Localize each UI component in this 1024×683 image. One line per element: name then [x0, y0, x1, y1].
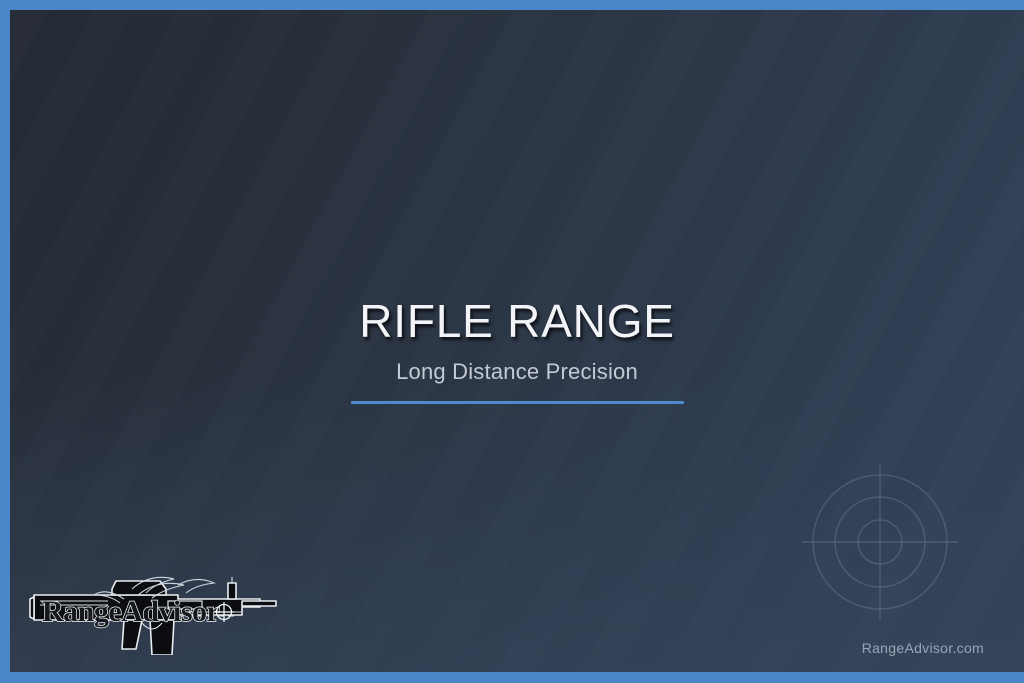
- rifle-logo-graphic: .rf-body { fill:#0b0d10; stroke:#e9edf2;…: [28, 565, 283, 655]
- crosshair-target-icon: [792, 454, 968, 630]
- page-subtitle: Long Distance Precision: [10, 360, 1024, 384]
- logo-wordmark: RangeAdvisor: [42, 595, 220, 628]
- brand-logo: .rf-body { fill:#0b0d10; stroke:#e9edf2;…: [28, 565, 283, 655]
- page-title: RIFLE RANGE: [10, 298, 1024, 344]
- slide-frame: RIFLE RANGE Long Distance Precision .rf-…: [0, 0, 1024, 683]
- title-divider: [351, 401, 684, 404]
- title-block: RIFLE RANGE Long Distance Precision: [10, 298, 1024, 404]
- slide-canvas: RIFLE RANGE Long Distance Precision .rf-…: [10, 10, 1024, 672]
- footer-url: RangeAdvisor.com: [862, 640, 984, 656]
